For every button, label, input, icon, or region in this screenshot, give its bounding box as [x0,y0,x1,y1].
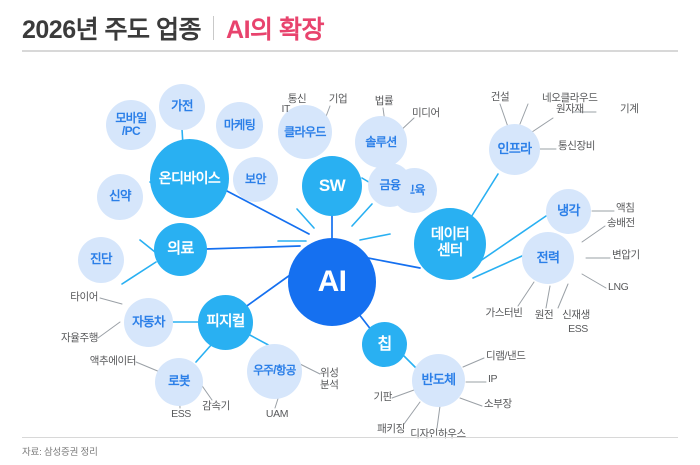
node-sw-label: SW [319,177,345,195]
node-cooling[interactable]: 냉각 [546,189,591,234]
node-new-drug[interactable]: 신약 [97,174,143,220]
node-infra[interactable]: 인프라 [489,124,540,175]
source-note: 자료: 삼성증권 정리 [22,444,98,458]
node-automobile-label: 자동차 [132,316,165,330]
tip-dram-nand: 디램/낸드 [486,351,526,363]
node-cooling-label: 냉각 [557,204,580,218]
node-automobile[interactable]: 자동차 [124,298,173,347]
page-title: 2026년 주도 업종 [22,10,201,46]
title-row: 2026년 주도 업종 AI의 확장 [22,10,324,46]
tip-renewable: 신재생 [562,310,590,322]
tip-raw-material: 원자재 [556,104,584,116]
node-chip[interactable]: 칩 [362,322,407,367]
node-chip-label: 칩 [377,336,391,353]
node-new-drug-label: 신약 [109,190,131,204]
node-on-device-label: 온디바이스 [159,171,220,186]
title-divider [213,16,214,40]
node-finance[interactable]: 금융 [368,163,412,207]
node-physical[interactable]: 피지컬 [198,295,253,350]
node-robot-label: 로봇 [168,375,190,389]
node-infra-label: 인프라 [497,142,531,156]
node-semiconductor[interactable]: 반도체 [412,354,465,407]
tip-design-house: 디자인하우스 [410,429,466,441]
tip-nuclear: 원전 [535,310,554,322]
tip-legal: 법률 [375,96,394,108]
node-mobile-pc-label-line2: /PC [122,125,140,138]
node-home-appliance-label: 가전 [171,100,193,114]
tip-satellite-analysis: 위성 분석 [320,368,339,392]
node-on-device[interactable]: 온디바이스 [150,139,229,218]
node-diagnosis[interactable]: 진단 [78,237,124,283]
node-core-ai-label: AI [318,266,347,298]
tip-enterprise: 기업 [329,94,348,106]
tip-autonomous-driving: 자율주행 [61,333,98,345]
node-data-center[interactable]: 데이터 센터 [414,208,486,280]
node-medical[interactable]: 의료 [154,223,207,276]
node-sw[interactable]: SW [302,156,362,216]
node-home-appliance[interactable]: 가전 [159,84,205,130]
node-mobile-pc[interactable]: 모바일 /PC [106,100,156,150]
node-medical-label: 의료 [167,241,193,257]
node-security-label: 보안 [245,173,266,186]
node-security[interactable]: 보안 [233,157,278,202]
tip-actuator: 액추에이터 [90,356,136,368]
diagram-canvas: AI SW 온디바이스 의료 피지컬 칩 데이터 센터 마케팅 보안 [0,56,700,437]
header: 2026년 주도 업종 AI의 확장 [0,0,700,56]
node-core-ai[interactable]: AI [288,238,376,326]
node-physical-label: 피지컬 [206,315,244,331]
tip-construction: 건설 [491,92,510,104]
tip-ess-power: ESS [568,324,588,336]
node-space-aerospace[interactable]: 우주/항공 [247,344,302,399]
tip-machinery: 기계 [620,104,639,116]
node-data-center-label-line2: 센터 [437,244,462,260]
tip-reducer: 감속기 [202,401,230,413]
node-power-label: 전력 [537,251,560,265]
tip-media: 미디어 [412,108,440,120]
tip-lng: LNG [608,282,628,294]
tip-substrate: 기판 [373,392,392,404]
node-marketing-label: 마케팅 [224,119,255,132]
tip-telecom: 통신 [288,94,307,106]
tip-ip: IP [488,374,497,386]
node-semiconductor-label: 반도체 [421,373,455,387]
tip-network-equipment: 통신장비 [558,141,595,153]
tip-immersion-cooling: 액침 [616,203,635,215]
tip-it: IT [281,104,290,116]
tip-transformer: 변압기 [612,250,640,262]
page-subtitle-accent: AI의 확장 [226,10,324,46]
tip-ess-robot: ESS [171,409,191,421]
footer-divider-rule [22,437,678,438]
node-diagnosis-label: 진단 [90,253,112,267]
node-space-aerospace-label: 우주/항공 [253,365,296,377]
node-robot[interactable]: 로봇 [155,358,203,406]
node-finance-label: 금융 [380,179,401,192]
node-solution-label: 솔루션 [365,136,396,149]
node-data-center-label-line1: 데이터 [431,228,469,244]
node-power[interactable]: 전력 [522,232,574,284]
node-solution[interactable]: 솔루션 [355,116,407,168]
tip-packaging: 패키징 [377,424,405,436]
tip-gas-turbine: 가스터빈 [485,308,522,320]
tip-materials-parts: 소부장 [484,399,512,411]
tip-uam: UAM [266,409,288,421]
header-divider-rule [22,50,678,52]
tip-transmission: 송배전 [607,218,635,230]
tip-tire: 타이어 [70,292,98,304]
node-marketing[interactable]: 마케팅 [216,102,263,149]
node-cloud-label: 클라우드 [284,126,326,139]
infographic-page: 2026년 주도 업종 AI의 확장 [0,0,700,465]
